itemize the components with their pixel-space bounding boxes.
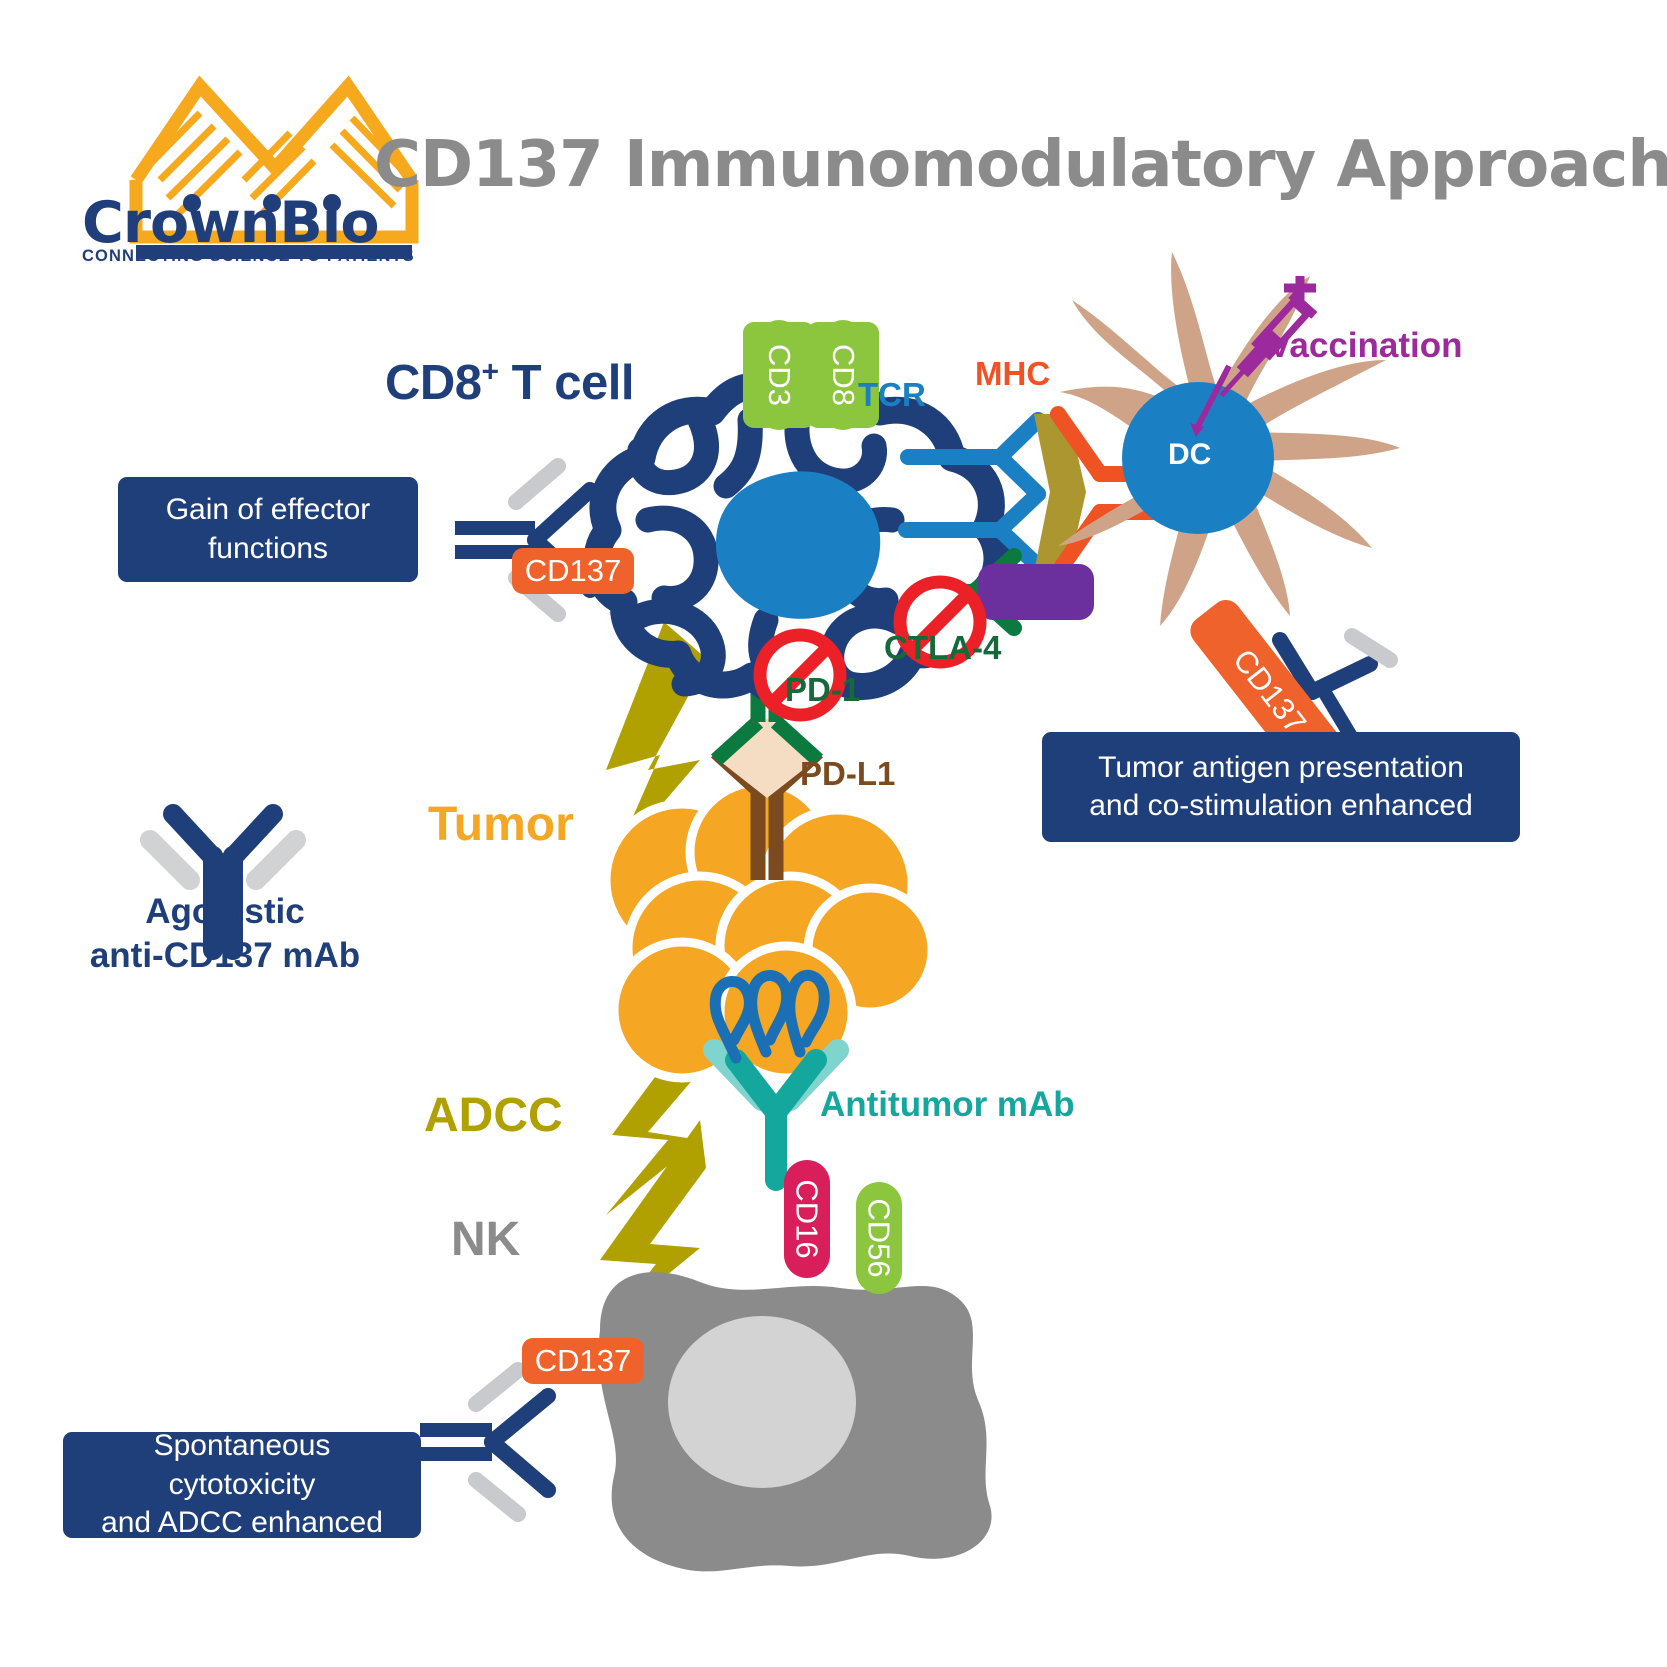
- mhc-label: MHC: [975, 355, 1050, 393]
- cd16-label: CD16: [789, 1179, 825, 1258]
- receptor-chip-cd16[interactable]: CD16: [768, 1162, 846, 1276]
- callout-tumor-antigen-presentation[interactable]: Tumor antigen presentation and co-stimul…: [1042, 732, 1520, 842]
- tumor-label: Tumor: [428, 797, 574, 852]
- dendritic-cell: [1058, 252, 1400, 626]
- callout-0-line-2: functions: [166, 530, 371, 568]
- dc-label: DC: [1168, 438, 1211, 472]
- cd137-nk-label: CD137: [535, 1343, 632, 1379]
- antitumor-mab-label: Antitumor mAb: [820, 1085, 1075, 1125]
- legend-line-2: anti-CD137 mAb: [60, 934, 390, 978]
- receptor-chip-cd3[interactable]: CD3: [743, 322, 815, 428]
- nk-cell: [599, 1272, 992, 1571]
- adcc-label: ADCC: [424, 1088, 563, 1143]
- diagram-canvas: CrownBio CONNECTING SCIENCE TO PATIENTS …: [0, 0, 1667, 1667]
- ctla4-label: CTLA-4: [884, 629, 1001, 667]
- tcell-label-main: CD8: [385, 356, 482, 410]
- callout-1-line-1: Tumor antigen presentation: [1089, 749, 1473, 787]
- callout-0-line-1: Gain of effector: [166, 491, 371, 529]
- callout-spontaneous-cytotoxicity[interactable]: Spontaneous cytotoxicity and ADCC enhanc…: [63, 1432, 421, 1538]
- callout-1-line-2: and co-stimulation enhanced: [1089, 787, 1473, 825]
- cd56-label: CD56: [861, 1198, 897, 1277]
- receptor-chip-cd137-tcell[interactable]: CD137: [512, 548, 634, 594]
- legend-line-1: Agonistic: [60, 890, 390, 934]
- cd8-label: CD8: [825, 344, 861, 406]
- vaccination-label: Vaccination: [1268, 326, 1463, 366]
- tcr-label: TCR: [858, 376, 926, 414]
- tcell-label: CD8+ T cell: [385, 355, 634, 411]
- callout-gain-of-effector-functions[interactable]: Gain of effector functions: [118, 477, 418, 582]
- tcr-molecule: [906, 420, 1038, 566]
- legend-label: Agonistic anti-CD137 mAb: [60, 890, 390, 978]
- pd1-label: PD-1: [785, 671, 860, 709]
- receptor-chip-cd56[interactable]: CD56: [840, 1184, 918, 1292]
- ctla4-ligand: [978, 564, 1094, 620]
- cd3-label: CD3: [761, 344, 797, 406]
- callout-2-line-1: Spontaneous cytotoxicity: [79, 1427, 405, 1504]
- cd137-tcell-label: CD137: [525, 553, 622, 589]
- tcell-label-suffix: T cell: [499, 356, 634, 410]
- tcell-label-sup: +: [482, 356, 499, 389]
- nk-label: NK: [451, 1212, 520, 1267]
- antibody-icon-nk: [420, 1370, 548, 1514]
- pdl1-label: PD-L1: [800, 755, 895, 793]
- receptor-chip-cd137-nk[interactable]: CD137: [522, 1338, 644, 1384]
- callout-2-line-2: and ADCC enhanced: [79, 1504, 405, 1542]
